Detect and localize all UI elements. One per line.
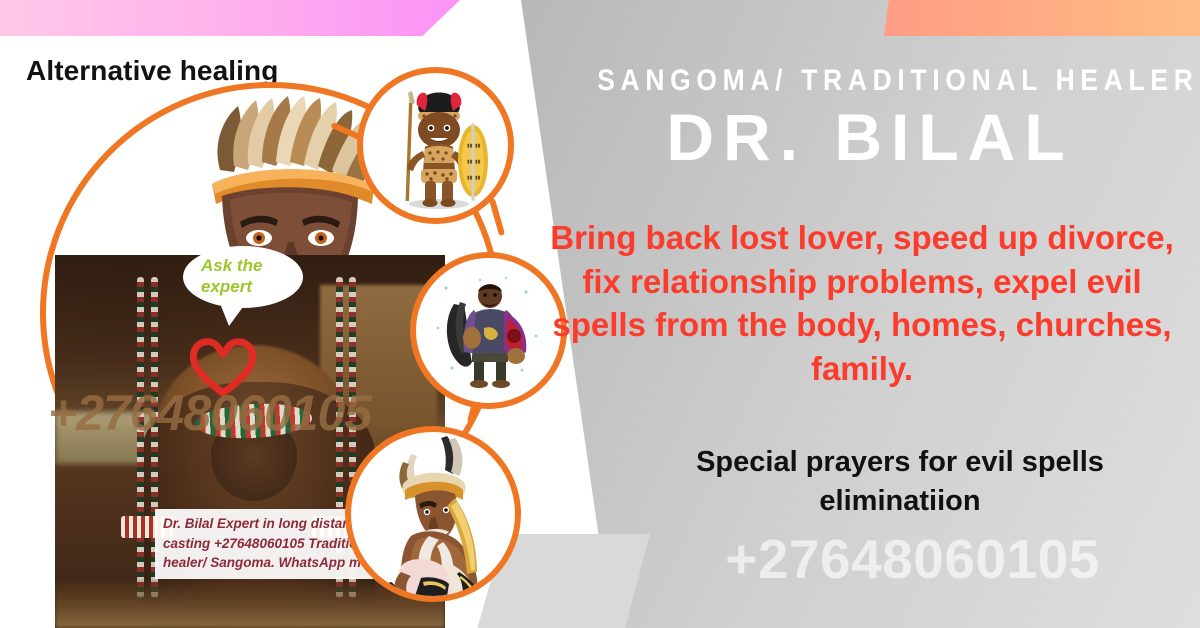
services-paragraph: Bring back lost lover, speed up divorce,… <box>548 216 1176 390</box>
circle-zulu-warrior: ▮▮▮▮ ▮▮▮▮ ▮▮▮▮ <box>357 67 514 224</box>
circle-sangoma-diviner <box>410 252 567 409</box>
traditional-dancer-illustration <box>351 432 515 596</box>
svg-text:▮▮: ▮▮ <box>475 143 481 149</box>
bubble-label: Ask the expert <box>201 255 296 298</box>
zulu-warrior-illustration: ▮▮▮▮ ▮▮▮▮ ▮▮▮▮ <box>363 73 508 218</box>
poster-canvas: Alternative healing <box>0 0 1200 628</box>
top-salmon-accent-bar <box>884 0 1200 36</box>
svg-text:▮▮: ▮▮ <box>475 159 481 165</box>
caption-line-2: casting +27648060105 Traditional <box>163 534 377 554</box>
svg-text:▮▮: ▮▮ <box>475 175 481 181</box>
sangoma-diviner-illustration <box>416 258 561 403</box>
svg-text:▮▮: ▮▮ <box>467 143 473 149</box>
healer-name-title: DR. BILAL <box>560 104 1180 170</box>
special-prayers-text: Special prayers for evil spells eliminat… <box>620 443 1180 520</box>
ghost-phone-number: +27648060105 <box>640 527 1185 591</box>
svg-text:▮▮: ▮▮ <box>467 159 473 165</box>
kicker-title: SANGOMA/ TRADITIONAL HEALER <box>597 64 1143 98</box>
alternative-healing-heading: Alternative healing <box>26 55 278 87</box>
ask-the-expert-bubble: Ask the expert <box>183 246 303 324</box>
circle-traditional-dancer <box>345 426 521 602</box>
caption-line-3: healer/ Sangoma. WhatsApp me <box>163 553 377 573</box>
svg-text:▮▮: ▮▮ <box>467 175 473 181</box>
top-pink-accent-bar <box>0 0 460 36</box>
